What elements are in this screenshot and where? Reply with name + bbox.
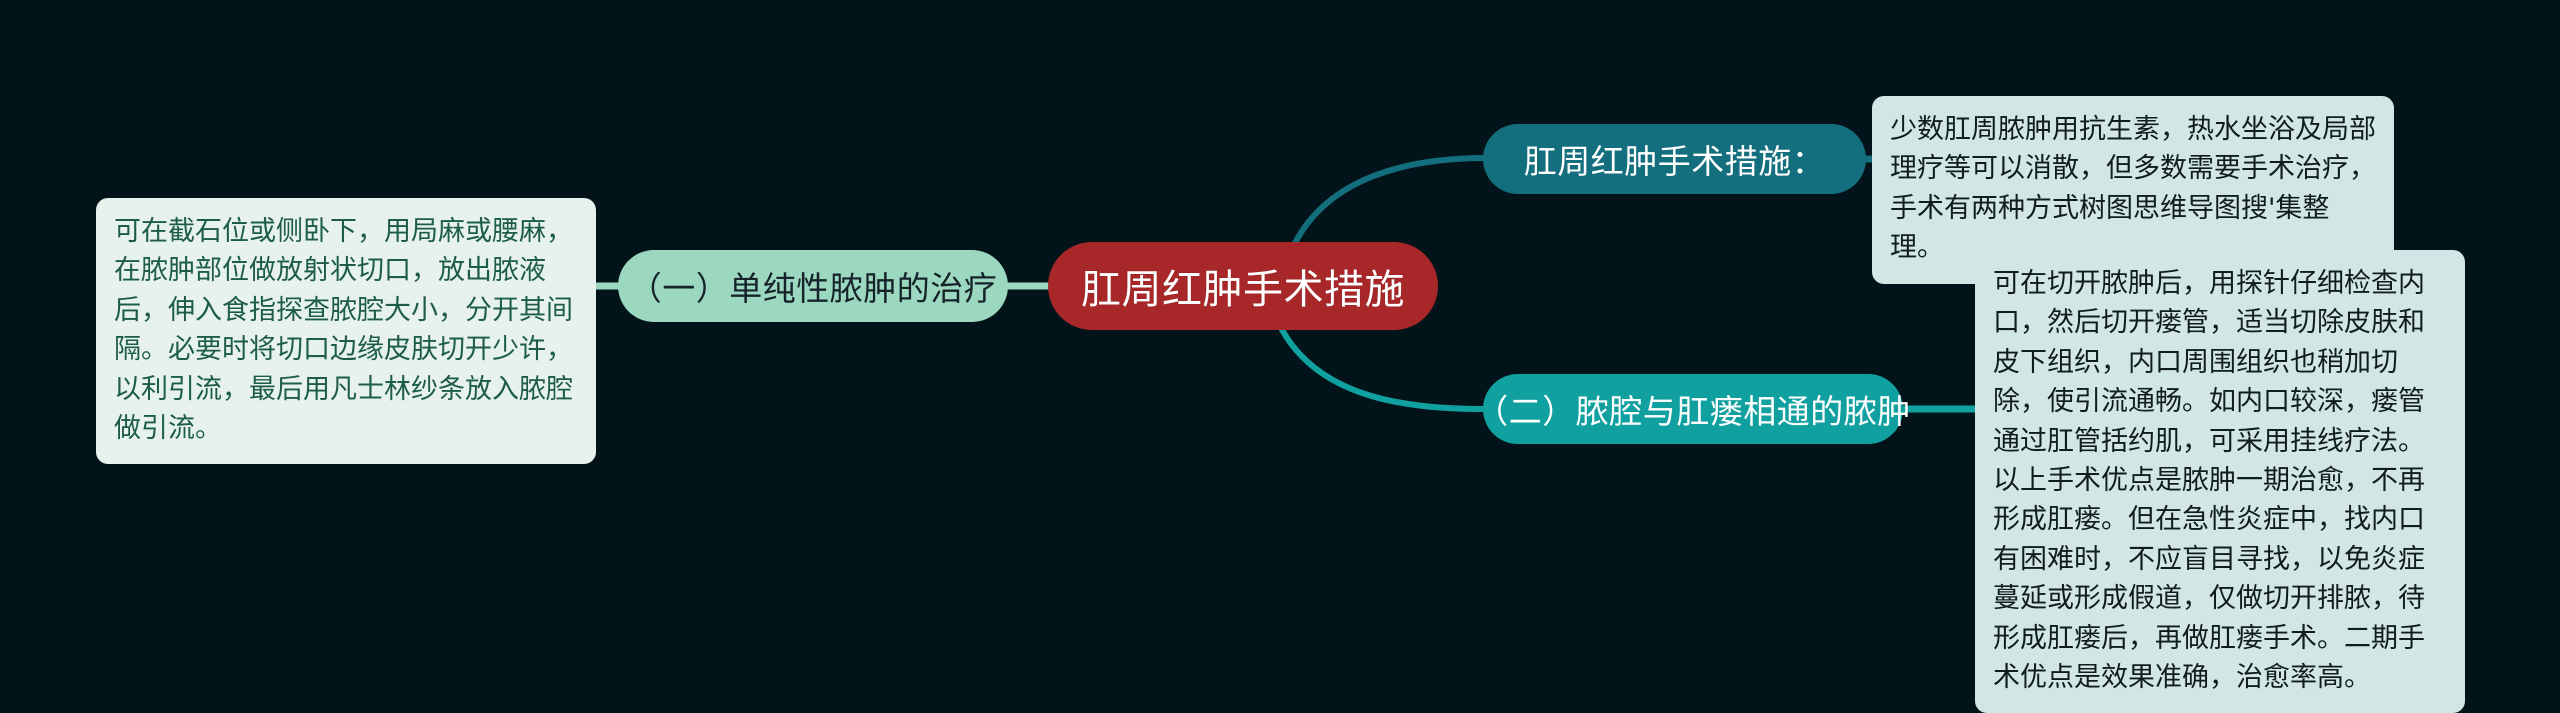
connector-root-to-branch-top [1295, 158, 1486, 243]
detail-box-fistula-connected-abscess: 可在切开脓肿后，用探针仔细检查内口，然后切开瘘管，适当切除皮肤和皮下组织，内口周… [1975, 250, 2465, 713]
connector-root-to-branch-bottom [1281, 328, 1487, 409]
root-node-title[interactable]: 肛周红肿手术措施 [1048, 242, 1438, 330]
branch-node-simple-abscess[interactable]: （一）单纯性脓肿的治疗 [618, 250, 1008, 322]
detail-box-simple-abscess: 可在截石位或侧卧下，用局麻或腰麻，在脓肿部位做放射状切口，放出脓液后，伸入食指探… [96, 198, 596, 464]
branch-node-surgical-measures[interactable]: 肛周红肿手术措施： [1483, 124, 1866, 194]
mindmap-canvas: 可在截石位或侧卧下，用局麻或腰麻，在脓肿部位做放射状切口，放出脓液后，伸入食指探… [0, 0, 2560, 640]
branch-node-fistula-connected-abscess[interactable]: （二）脓腔与肛瘘相通的脓肿 [1483, 374, 1903, 444]
